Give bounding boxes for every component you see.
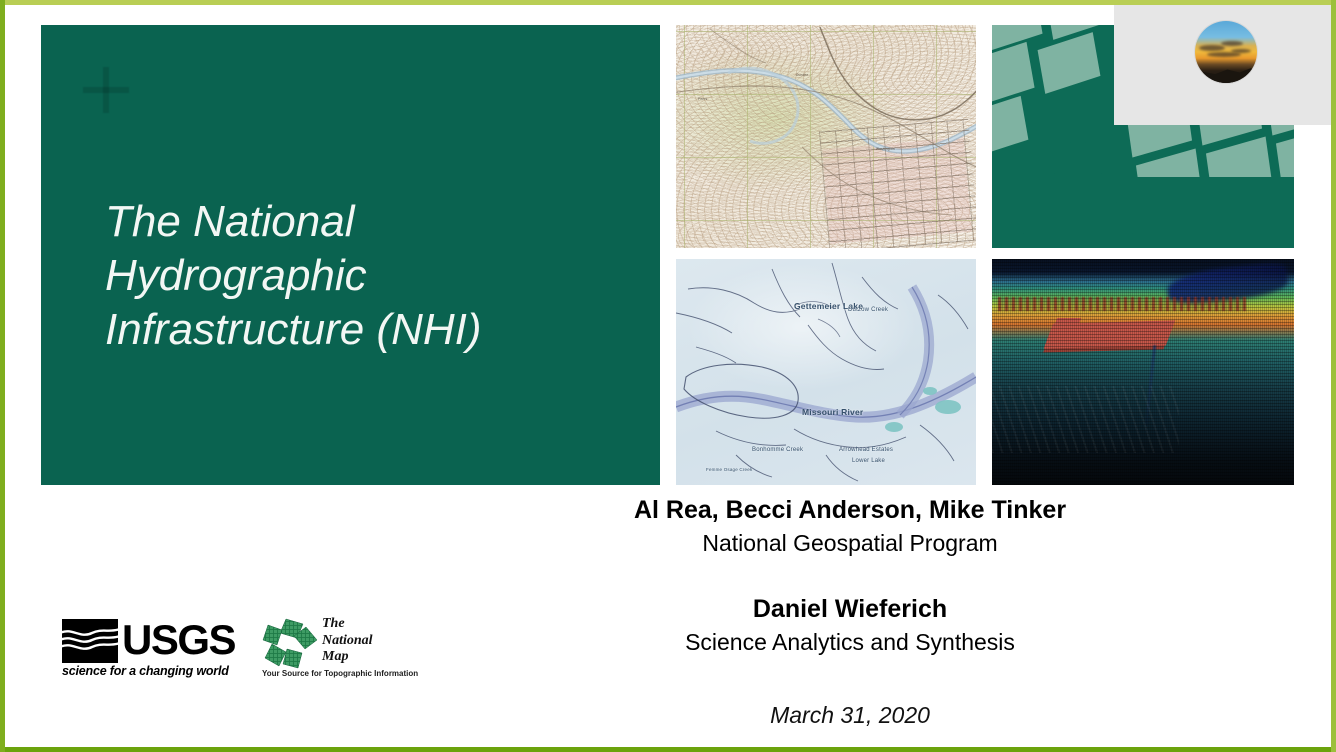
author-org-primary: National Geospatial Program (600, 527, 1100, 559)
author-org-secondary: Science Analytics and Synthesis (600, 626, 1100, 658)
hydro-label: Femme Osage Creek (706, 467, 752, 472)
tnm-tagline: Your Source for Topographic Information (262, 669, 418, 678)
avatar-horizon (1195, 62, 1257, 83)
usgs-wave-mark-icon (62, 619, 118, 663)
hydro-label: Dutzow Creek (848, 307, 888, 313)
lidar-elevation-image (992, 259, 1294, 485)
slide-border-left (0, 0, 5, 752)
the-national-map-logo: The National Map Your Source for Topogra… (262, 616, 397, 682)
hydrography-map-image: Gettemeier Lake Dutzow Creek Missouri Ri… (676, 259, 976, 485)
tnm-pinwheel-icon (262, 618, 320, 670)
hydro-label: Missouri River (802, 407, 863, 417)
hydro-stream-network (676, 259, 976, 485)
topo-street-grid (819, 119, 976, 248)
author-names-primary: Al Rea, Becci Anderson, Mike Tinker (600, 494, 1100, 527)
plus-mark-icon (83, 67, 129, 113)
avatar[interactable] (1195, 21, 1257, 83)
author-spacer (600, 559, 1100, 593)
hydro-label: Bonhomme Creek (752, 447, 803, 453)
topo-place-label: Dundee (796, 73, 808, 77)
title-panel: The National Hydrographic Infrastructure… (41, 25, 660, 485)
abstract-triangle (1016, 128, 1140, 248)
slide-border-bottom (0, 747, 1336, 752)
usgs-wordmark: USGS (122, 617, 235, 663)
author-block: Al Rea, Becci Anderson, Mike Tinker Nati… (600, 494, 1100, 658)
author-names-secondary: Daniel Wieferich (600, 593, 1100, 626)
video-participant-tile[interactable] (1114, 0, 1336, 125)
topo-place-label: Washington (876, 147, 895, 151)
hydro-label: Lower Lake (852, 458, 885, 464)
usgs-logo: USGS science for a changing world (62, 619, 234, 681)
presentation-slide: The National Hydrographic Infrastructure… (0, 0, 1336, 752)
presentation-date: March 31, 2020 (600, 702, 1100, 729)
topo-place-label: Peers (698, 97, 707, 101)
hydro-label: Arrowhead Estates (839, 447, 893, 453)
tnm-wordmark: The National Map (322, 616, 373, 666)
topographic-map-image: Washington Dundee Peers (676, 25, 976, 248)
usgs-tagline: science for a changing world (62, 664, 229, 678)
page-title: The National Hydrographic Infrastructure… (105, 195, 625, 357)
lidar-point-texture (992, 259, 1294, 485)
